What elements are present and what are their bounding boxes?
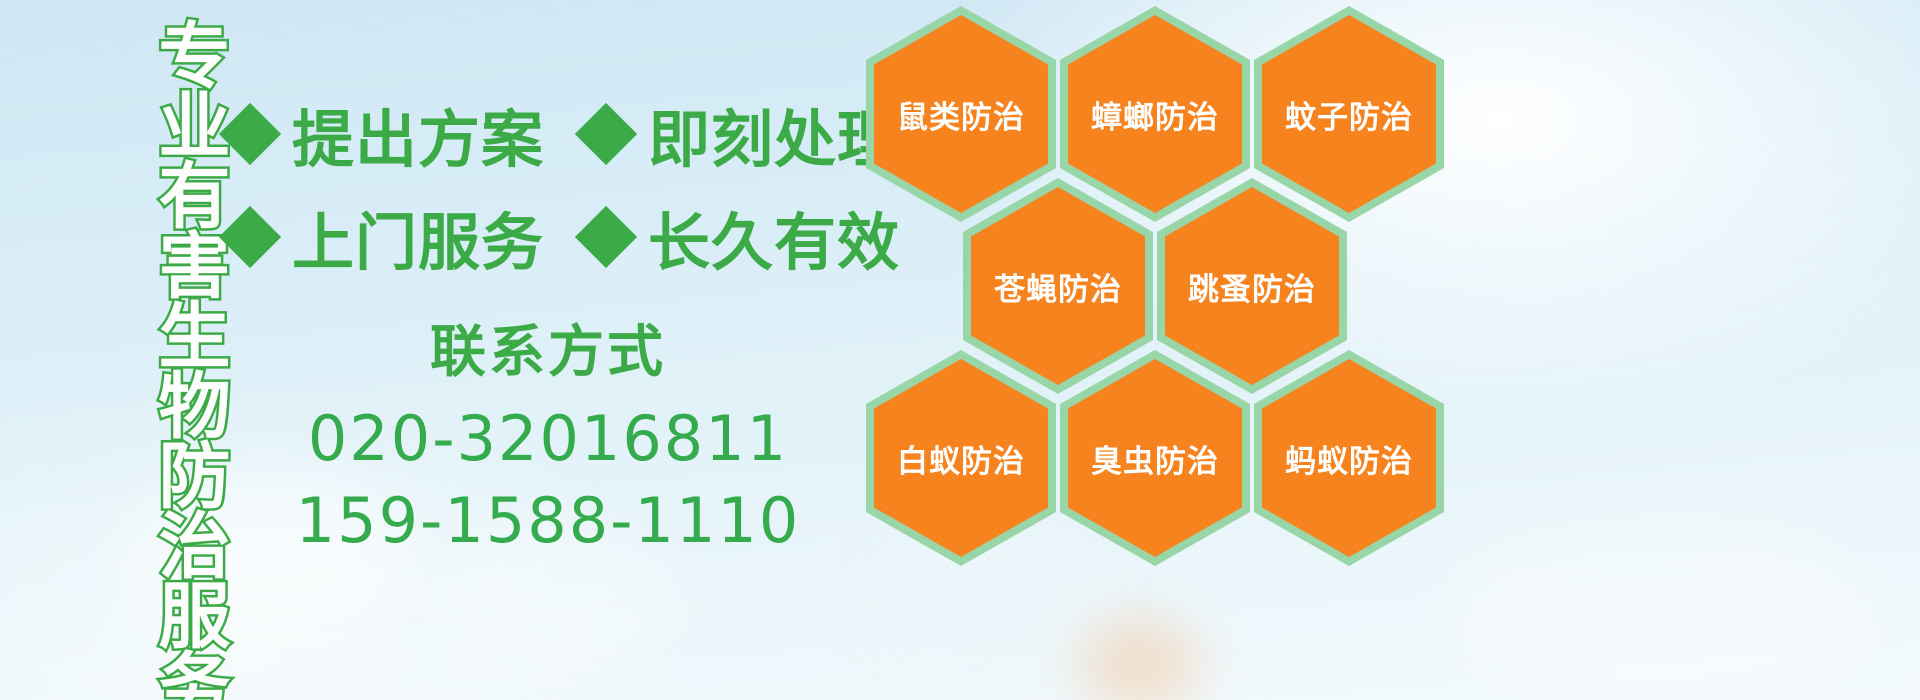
phone-mobile[interactable]: 159-1588-1110 (228, 480, 868, 562)
contact-block: 联系方式 020-32016811 159-1588-1110 (228, 318, 868, 562)
slogan-row-1: 提出方案 即刻处理 (228, 82, 900, 185)
contact-title: 联系方式 (228, 318, 868, 388)
pest-control-banner: 专业有害生物防治服务 提出方案 即刻处理 上门服务 长久有效 联 (0, 0, 1920, 700)
diamond-bullet-icon (219, 102, 281, 164)
diamond-bullet-icon (575, 205, 637, 267)
service-hex-inner: 臭虫防治 (1068, 359, 1242, 557)
service-hex-label: 臭虫防治 (1091, 436, 1219, 481)
slogan-item-door-to-door-service: 上门服务 (228, 192, 544, 282)
service-hex-label: 蚂蚁防治 (1285, 436, 1413, 481)
service-hex-label: 白蚁防治 (897, 436, 1025, 481)
slogan-item-immediate-handling: 即刻处理 (584, 89, 900, 179)
service-hex-inner: 蟑螂防治 (1068, 15, 1242, 213)
slogan-label: 提出方案 (292, 89, 544, 179)
service-hex-label: 跳蚤防治 (1188, 264, 1316, 309)
service-hex-inner: 鼠类防治 (874, 15, 1048, 213)
diamond-bullet-icon (219, 205, 281, 267)
service-hex-inner: 蚊子防治 (1262, 15, 1436, 213)
service-hex-inner: 白蚁防治 (874, 359, 1048, 557)
service-hex-inner: 蚂蚁防治 (1262, 359, 1436, 557)
vertical-title: 专业有害生物防治服务 (106, 18, 224, 700)
service-hex-rodent[interactable]: 鼠类防治 (866, 6, 1056, 222)
service-hex-termite[interactable]: 白蚁防治 (866, 350, 1056, 566)
slogan-row-2: 上门服务 长久有效 (228, 185, 900, 288)
service-hex-inner: 苍蝇防治 (971, 187, 1145, 385)
slogan-list: 提出方案 即刻处理 上门服务 长久有效 (228, 82, 900, 288)
slogan-label: 上门服务 (292, 192, 544, 282)
diamond-bullet-icon (575, 102, 637, 164)
service-hexagon-grid: 鼠类防治 蟑螂防治 蚊子防治 苍蝇防治 跳蚤防治 白蚁防 (862, 0, 1462, 558)
service-hex-label: 蟑螂防治 (1091, 92, 1219, 137)
service-hex-mosquito[interactable]: 蚊子防治 (1254, 6, 1444, 222)
service-hex-inner: 跳蚤防治 (1165, 187, 1339, 385)
service-hex-cockroach[interactable]: 蟑螂防治 (1060, 6, 1250, 222)
service-hex-fly[interactable]: 苍蝇防治 (963, 178, 1153, 394)
service-hex-bedbug[interactable]: 臭虫防治 (1060, 350, 1250, 566)
background-bokeh-blob (1450, 520, 1870, 700)
slogan-item-propose-plan: 提出方案 (228, 89, 544, 179)
background-bokeh-blob (1080, 620, 1200, 700)
slogan-item-long-lasting-effect: 长久有效 (584, 192, 900, 282)
service-hex-flea[interactable]: 跳蚤防治 (1157, 178, 1347, 394)
service-hex-label: 苍蝇防治 (994, 264, 1122, 309)
service-hex-label: 鼠类防治 (897, 92, 1025, 137)
phone-landline[interactable]: 020-32016811 (228, 398, 868, 480)
service-hex-label: 蚊子防治 (1285, 92, 1413, 137)
service-hex-ant[interactable]: 蚂蚁防治 (1254, 350, 1444, 566)
